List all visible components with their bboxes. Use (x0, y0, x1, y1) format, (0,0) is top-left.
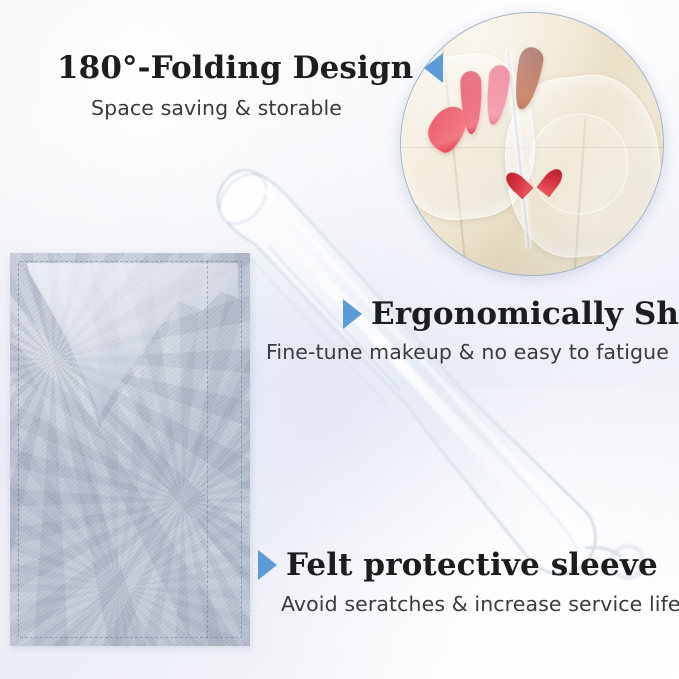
callout-felt-subline: Avoid seratches & increase service life (281, 592, 679, 616)
triangle-right-icon (343, 299, 362, 329)
felt-stitch-border (18, 261, 242, 638)
callout-felt-sleeve: Felt protective sleeve Avoid seratches &… (258, 549, 679, 616)
callout-folding-design: 180°-Folding Design Space saving & stora… (57, 52, 443, 120)
callout-folding-headline: 180°-Folding Design (57, 52, 413, 85)
callout-ergonomic-headline: Ergonomically Shaped (371, 298, 679, 331)
callout-felt-headline: Felt protective sleeve (286, 549, 658, 582)
callout-ergonomic-headline-row: Ergonomically Shaped (343, 298, 679, 331)
felt-sleeve-photo (10, 253, 250, 646)
callout-felt-headline-row: Felt protective sleeve (258, 549, 679, 582)
background-highlight-bottom-right (217, 387, 679, 679)
callout-folding-headline-row: 180°-Folding Design (57, 52, 443, 85)
triangle-left-icon (424, 53, 443, 83)
callout-ergonomic-subline: Fine-tune makeup & no easy to fatigue (266, 340, 679, 364)
callout-folding-subline: Space saving & storable (91, 96, 443, 120)
felt-stitch-seam (207, 261, 208, 638)
callout-ergonomically-shaped: Ergonomically Shaped Fine-tune makeup & … (343, 298, 679, 364)
triangle-right-icon (258, 550, 277, 580)
product-infographic: 180°-Folding Design Space saving & stora… (0, 0, 679, 679)
